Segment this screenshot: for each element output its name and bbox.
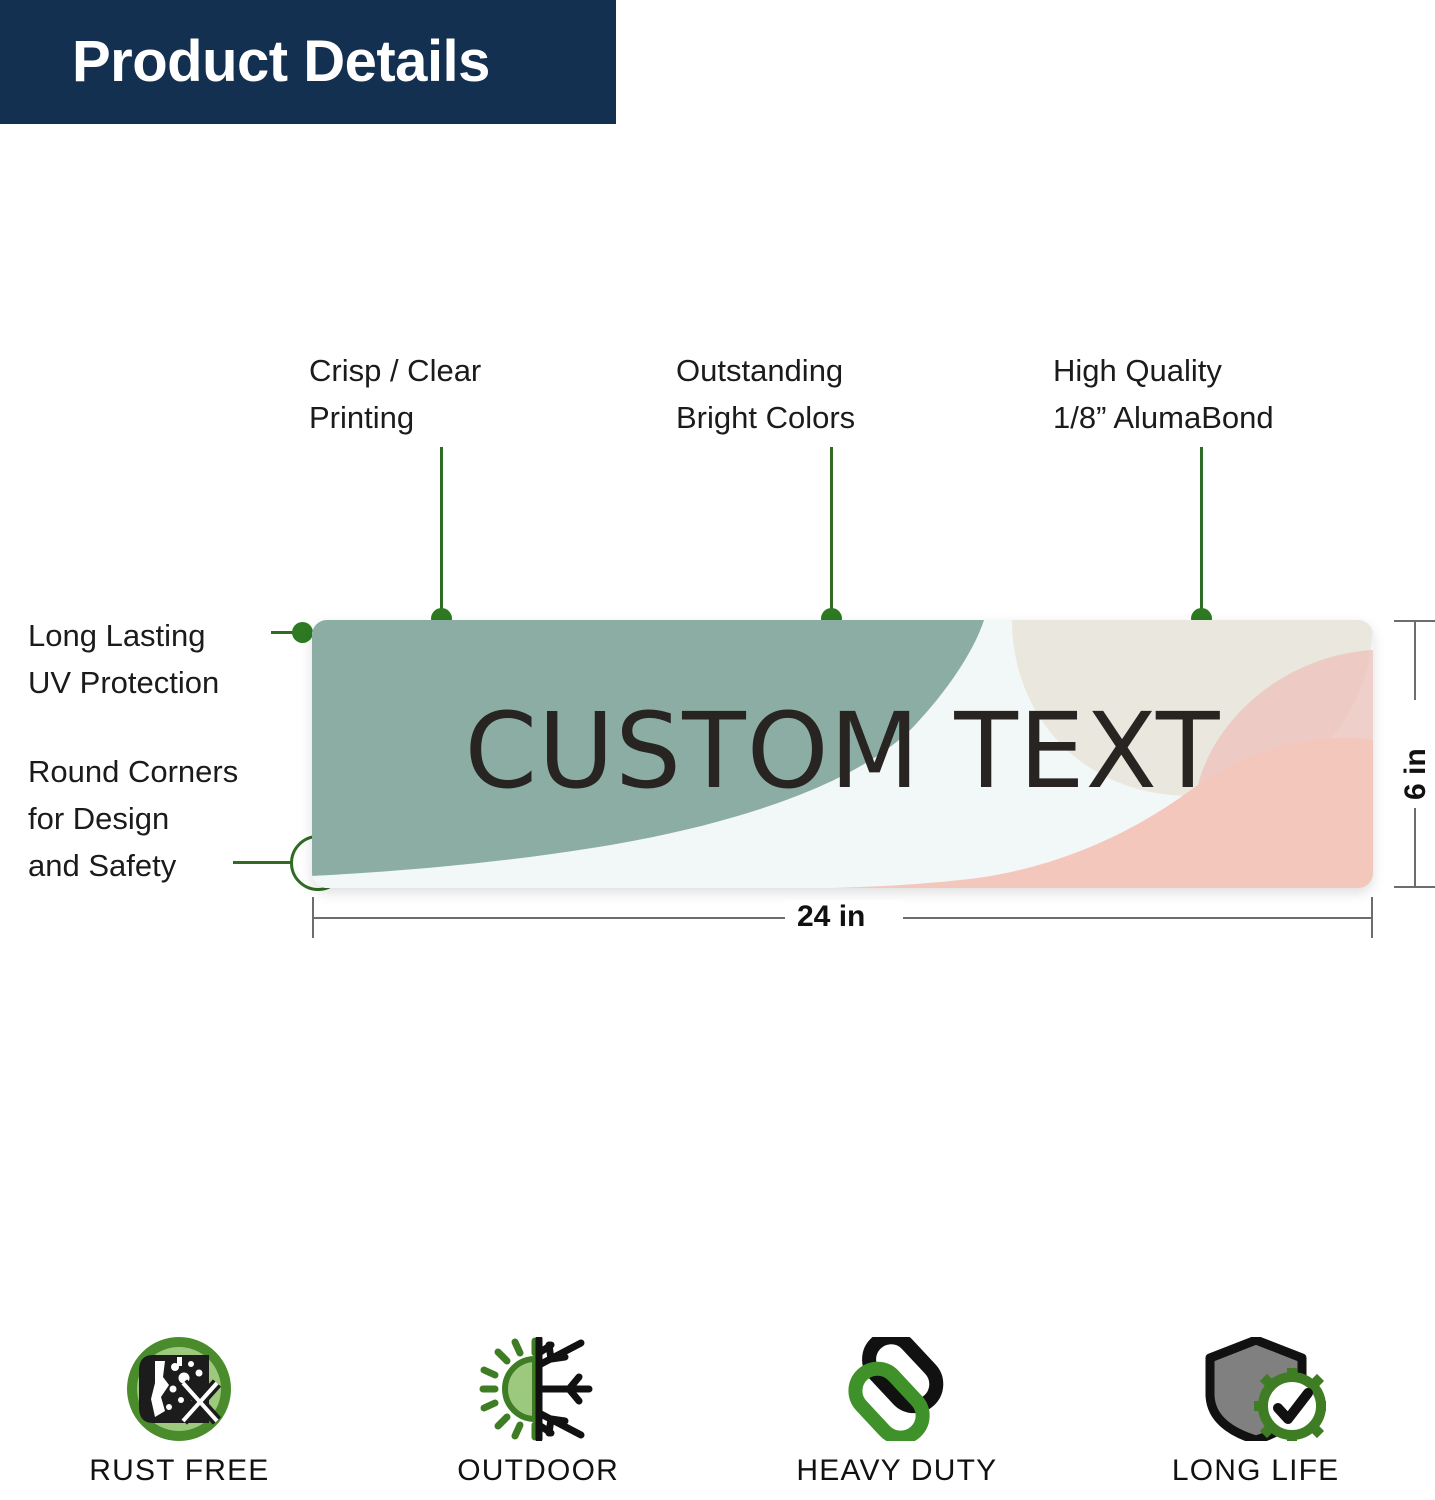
feature-badges-row: RUST FREE — [0, 1336, 1435, 1500]
dimension-width-cap-right — [1371, 897, 1373, 938]
dimension-width-label: 24 in — [797, 900, 865, 934]
long-life-icon — [1186, 1336, 1326, 1442]
dimension-width-cap-left — [312, 897, 314, 938]
callout-label-outstanding-bright-colors: Outstanding Bright Colors — [676, 347, 855, 441]
feature-rust-free: RUST FREE — [0, 1336, 359, 1500]
heavy-duty-icon — [827, 1336, 967, 1442]
callout-label-long-lasting-uv-protection: Long Lasting UV Protection — [28, 612, 219, 706]
callout-label-round-corners-for-design-and-safety: Round Corners for Design and Safety — [28, 748, 238, 889]
callout-label-high-quality-alumabond: High Quality 1/8” AlumaBond — [1053, 347, 1274, 441]
header-banner: Product Details — [0, 0, 616, 124]
feature-heavy-duty: HEAVY DUTY — [718, 1336, 1077, 1500]
feature-caption-long-life: LONG LIFE — [1172, 1454, 1340, 1488]
dimension-height-label: 6 in — [1399, 748, 1433, 800]
sign-preview-panel[interactable]: CUSTOM TEXT — [312, 620, 1373, 888]
dimension-height-cap-bottom — [1394, 886, 1435, 888]
feature-outdoor: OUTDOOR — [359, 1336, 718, 1500]
leader-dot-uv — [292, 622, 313, 643]
sign-custom-text: CUSTOM TEXT — [312, 620, 1373, 888]
dimension-height-cap-top — [1394, 620, 1435, 622]
leader-line-crisp — [440, 447, 443, 619]
feature-caption-heavy-duty: HEAVY DUTY — [796, 1454, 997, 1488]
feature-caption-rust-free: RUST FREE — [89, 1454, 269, 1488]
callout-label-crisp-clear-printing: Crisp / Clear Printing — [309, 347, 481, 441]
leader-line-round-corners — [233, 861, 291, 864]
rust-free-icon — [103, 1336, 255, 1442]
feature-caption-outdoor: OUTDOOR — [457, 1454, 619, 1488]
outdoor-icon — [463, 1336, 613, 1442]
page-title: Product Details — [72, 26, 490, 98]
feature-long-life: LONG LIFE — [1076, 1336, 1435, 1500]
leader-line-bright — [830, 447, 833, 619]
leader-line-quality — [1200, 447, 1203, 619]
